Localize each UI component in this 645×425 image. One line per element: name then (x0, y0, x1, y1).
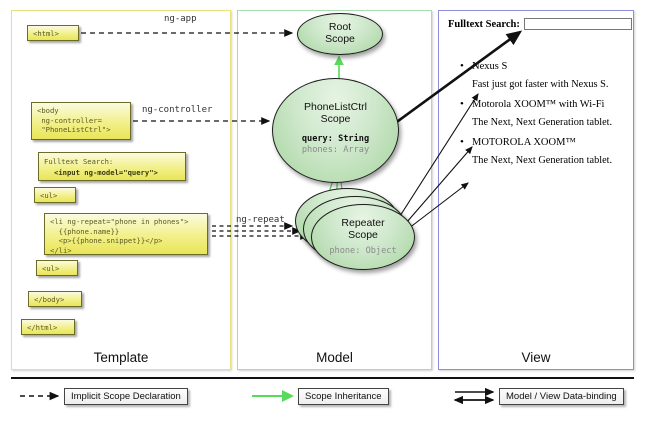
phone-snippet: The Next, Next Generation tablet. (460, 116, 630, 130)
phonelistctrl-scope: PhoneListCtrl Scope query: String phones… (272, 78, 399, 183)
root-scope: Root Scope (297, 13, 383, 55)
diagram-canvas: Template Model View <html> <body ng-cont… (0, 0, 645, 425)
legend-item-implicit-scope-declaration: Implicit Scope Declaration (64, 386, 188, 406)
code-box-body-open: <body ng-controller= "PhoneListCtrl"> (31, 102, 131, 140)
list-item: Motorola XOOM™ with Wi-Fi The Next, Next… (460, 98, 630, 130)
panel-model-label: Model (238, 350, 431, 365)
view-search-label: Fulltext Search: (448, 19, 520, 30)
repeater-scope-title-1: Repeater (312, 217, 414, 229)
panel-view-label: View (439, 350, 633, 365)
phone-name: MOTOROLA XOOM™ (460, 136, 630, 150)
panel-template-label: Template (12, 350, 230, 365)
code-box-fulltext-search: Fulltext Search: <input ng-model="query"… (38, 152, 186, 181)
code-box-li-ng-repeat: <li ng-repeat="phone in phones"> {{phone… (44, 213, 208, 255)
edge-label-ng-repeat: ng-repeat (236, 215, 285, 225)
phonelistctrl-scope-title-1: PhoneListCtrl (273, 101, 398, 113)
code-box-ul-open: <ul> (34, 187, 76, 203)
list-item: MOTOROLA XOOM™ The Next, Next Generation… (460, 136, 630, 168)
edge-label-ng-controller: ng-controller (142, 105, 212, 115)
edge-label-ng-app: ng-app (164, 14, 197, 24)
repeater-scope-title-2: Scope (312, 229, 414, 241)
view-rendered-output: Fulltext Search: Nexus S Fast just got f… (444, 16, 630, 316)
fulltext-search-line1: Fulltext Search: (44, 157, 113, 166)
repeater-scope: Repeater Scope phone: Object (311, 204, 415, 270)
phonelistctrl-scope-prop-phones: phones: Array (273, 145, 398, 156)
legend-item-model-view-data-binding: Model / View Data-binding (499, 386, 624, 406)
phone-name: Motorola XOOM™ with Wi-Fi (460, 98, 630, 112)
legend-label: Scope Inheritance (298, 388, 389, 405)
phonelistctrl-scope-prop-query: query: String (273, 134, 398, 145)
phonelistctrl-scope-title-2: Scope (273, 113, 398, 125)
list-item: Nexus S Fast just got faster with Nexus … (460, 60, 630, 92)
legend-label: Model / View Data-binding (499, 388, 624, 405)
phone-snippet: Fast just got faster with Nexus S. (460, 78, 630, 92)
root-scope-title-1: Root (298, 21, 382, 33)
phone-snippet: The Next, Next Generation tablet. (460, 154, 630, 168)
view-search-input[interactable] (524, 18, 632, 30)
code-box-html-open: <html> (27, 25, 79, 41)
legend-item-scope-inheritance: Scope Inheritance (298, 386, 389, 406)
fulltext-search-line2: <input ng-model="query"> (44, 168, 158, 177)
code-box-body-close: </body> (28, 291, 82, 307)
repeater-scope-prop-phone: phone: Object (312, 246, 414, 257)
code-box-ul-close: <ul> (36, 260, 78, 276)
phone-name: Nexus S (460, 60, 630, 74)
legend-label: Implicit Scope Declaration (64, 388, 188, 405)
legend: Implicit Scope Declaration Scope Inherit… (11, 376, 634, 416)
view-search-row: Fulltext Search: (448, 18, 630, 30)
code-box-html-close: </html> (21, 319, 75, 335)
view-phone-list: Nexus S Fast just got faster with Nexus … (460, 60, 630, 168)
root-scope-title-2: Scope (298, 33, 382, 45)
